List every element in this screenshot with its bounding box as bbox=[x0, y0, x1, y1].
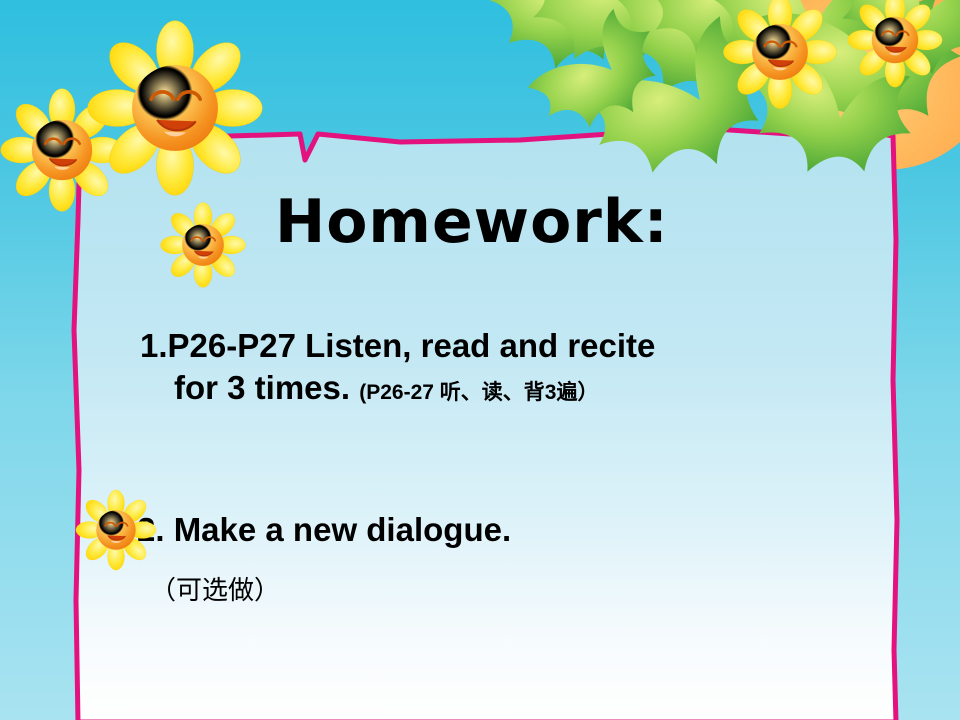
homework-item-1-line1: 1.P26-P27 Listen, read and recite bbox=[140, 327, 655, 364]
homework-item-1-note: (P26-27 听、读、背3遍） bbox=[359, 381, 598, 404]
homework-item-2-note: （可选做） bbox=[150, 578, 280, 604]
page-title: Homework: bbox=[275, 192, 669, 252]
homework-item-1: 1.P26-P27 Listen, read and recite for 3 … bbox=[140, 325, 900, 409]
homework-item-2: 2. Make a new dialogue. bbox=[137, 513, 511, 546]
homework-item-1-line2: for 3 times. bbox=[174, 369, 350, 406]
slide-canvas: Homework: 1.P26-P27 Listen, read and rec… bbox=[0, 0, 960, 720]
homework-item-1-line2-wrap: for 3 times. (P26-27 听、读、背3遍） bbox=[140, 367, 900, 409]
